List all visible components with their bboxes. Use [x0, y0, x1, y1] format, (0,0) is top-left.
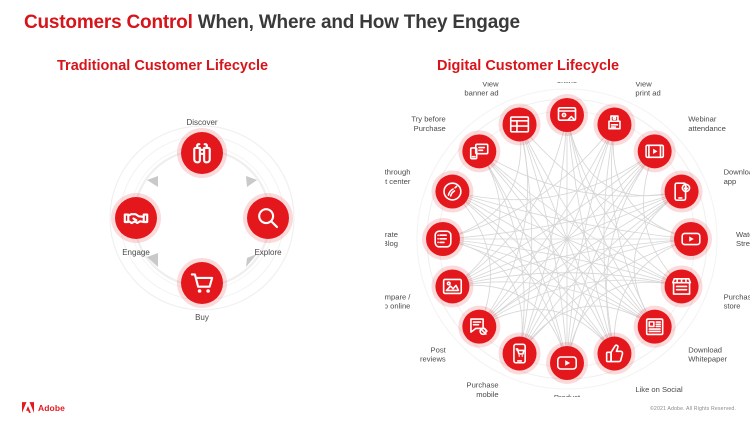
digital-node-purchase-in-store[interactable]: Purchase instore: [661, 265, 750, 310]
digital-lifecycle-diagram: ShoponlineViewprint adWebinarattendanceD…: [385, 82, 750, 397]
digital-label-view-print-ad: Viewprint ad: [635, 82, 660, 98]
traditional-node-engage[interactable]: Engage: [111, 193, 161, 257]
digital-label-compare-shop-online: Compare /shop online: [385, 292, 411, 310]
digital-node-webinar-attendance[interactable]: Webinarattendance: [634, 115, 726, 173]
connection-line: [452, 192, 691, 240]
traditional-node-explore[interactable]: Explore: [243, 193, 293, 257]
digital-label-purchase-in-store: Purchase instore: [724, 292, 750, 310]
digital-label-purchase-through-contact-center: Purchase throughContact center: [385, 168, 411, 186]
digital-node-download-whitepaper[interactable]: DownloadWhitepaper: [634, 306, 728, 364]
traditional-label-explore: Explore: [254, 248, 282, 257]
traditional-node-discover[interactable]: Discover: [177, 118, 227, 178]
page-title: Customers Control When, Where and How Th…: [24, 12, 520, 34]
traditional-label-engage: Engage: [122, 248, 150, 257]
digital-node-like-on-social[interactable]: Like on Social: [593, 333, 683, 395]
digital-node-try-before-purchase[interactable]: Try beforePurchase: [411, 115, 500, 173]
digital-label-post-reviews: Postreviews: [420, 345, 447, 363]
digital-label-shop-online: Shoponline: [557, 82, 577, 85]
digital-label-webinar-attendance: Webinarattendance: [688, 115, 726, 133]
traditional-lifecycle-diagram: Discover Explore Buy Engage: [90, 118, 315, 333]
digital-label-download-whitepaper: DownloadWhitepaper: [688, 345, 727, 363]
copyright-text: ©2021 Adobe. All Rights Reserved.: [650, 406, 736, 412]
digital-section-heading: Digital Customer Lifecycle: [437, 58, 619, 74]
digital-node-purchase-through-contact-center[interactable]: Purchase throughContact center: [385, 168, 473, 213]
traditional-label-discover: Discover: [186, 118, 217, 127]
traditional-node-buy[interactable]: Buy: [177, 258, 227, 322]
adobe-wordmark: Adobe: [38, 403, 65, 413]
adobe-logo: Adobe: [22, 402, 65, 413]
digital-node-corporate-blog[interactable]: CorporateBlog: [385, 218, 464, 260]
digital-node-compare-shop-online[interactable]: Compare /shop online: [385, 265, 473, 310]
slide-footer: Adobe ©2021 Adobe. All Rights Reserved.: [0, 391, 750, 421]
digital-label-view-banner-ad: Viewbanner ad: [464, 82, 499, 98]
traditional-label-buy: Buy: [195, 313, 209, 322]
flow-arrow: [147, 176, 257, 267]
digital-label-download-app: Downloadapp: [724, 168, 750, 186]
digital-label-watch-streaming-ad: WatchStreaming ad: [736, 230, 750, 248]
title-highlight: Customers Control: [24, 12, 193, 33]
traditional-section-heading: Traditional Customer Lifecycle: [57, 58, 268, 74]
digital-label-corporate-blog: CorporateBlog: [385, 230, 398, 248]
title-rest: When, Where and How They Engage: [193, 12, 520, 33]
digital-node-watch-streaming-ad[interactable]: WatchStreaming ad: [670, 218, 750, 260]
slide-root: Customers Control When, Where and How Th…: [0, 0, 750, 421]
digital-node-download-app[interactable]: Downloadapp: [661, 168, 750, 213]
digital-label-try-before-purchase: Try beforePurchase: [411, 115, 445, 133]
connection-line: [567, 124, 615, 363]
adobe-a-icon: [22, 402, 34, 413]
